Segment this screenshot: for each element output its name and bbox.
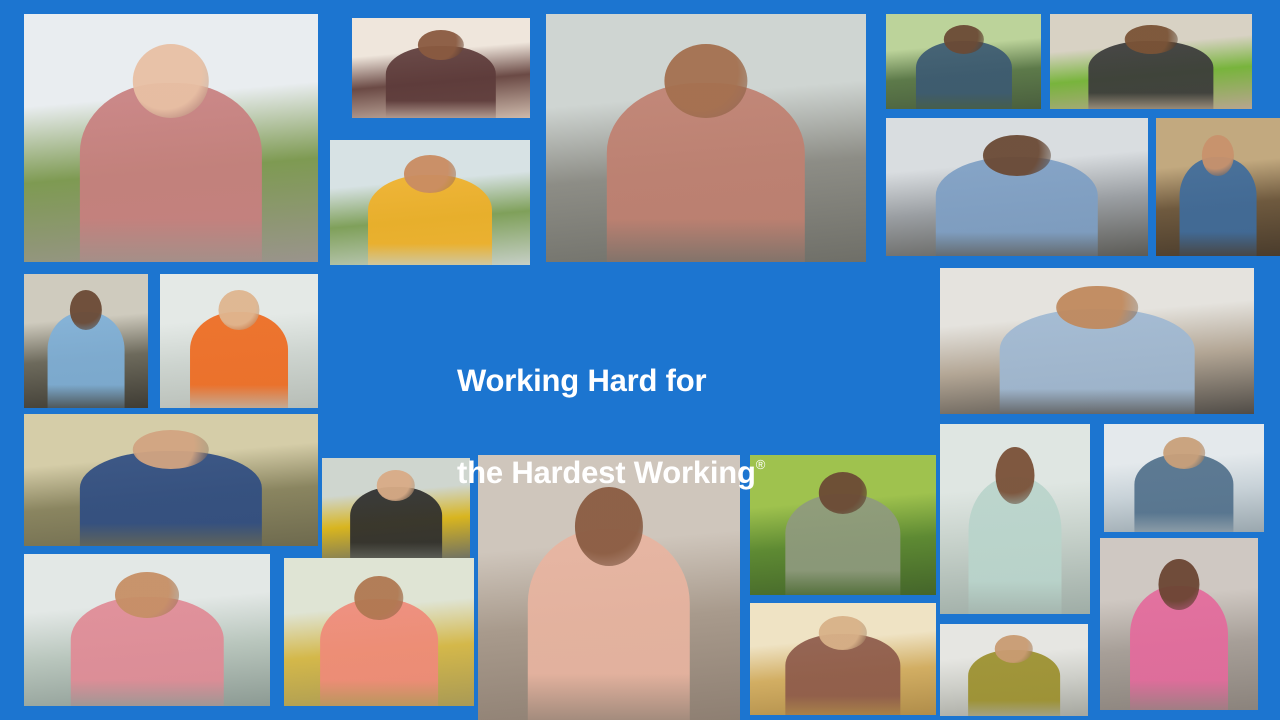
photo-woman-olive-top-indoors [940, 624, 1088, 716]
photo-barista-with-apron [546, 14, 866, 262]
photo-woman-office-desk [940, 268, 1254, 414]
photo-senior-couple-on-sofa [160, 274, 318, 408]
photo-subject-face [133, 430, 209, 470]
tagline: Working Hard for the Hardest Working® [457, 318, 765, 536]
photo-subject-face [819, 616, 867, 650]
photo-subject-face [995, 635, 1033, 663]
photo-soldier-in-camouflage [750, 455, 936, 595]
photo-family-of-five-outdoors [24, 14, 318, 262]
photo-subject-face [1125, 25, 1178, 54]
photo-couple-embracing [940, 424, 1090, 614]
collage-banner: Working Hard for the Hardest Working® [0, 0, 1280, 720]
photo-three-generations-field [750, 603, 936, 715]
photo-two-workers-hard-hats [24, 414, 318, 546]
photo-nurse-with-child [1104, 424, 1264, 532]
photo-subject-face [664, 44, 747, 118]
tagline-line-2-wrapper: the Hardest Working® [457, 444, 765, 494]
registered-trademark-icon: ® [756, 457, 766, 472]
photo-woman-celebrating-arms-raised [1100, 538, 1258, 710]
photo-military-family-hug [886, 14, 1041, 109]
photo-subject-face [943, 25, 983, 54]
photo-mother-daughter-yellow-orange [330, 140, 530, 265]
photo-subject-face [1056, 286, 1138, 330]
photo-subject-face [404, 155, 456, 193]
photo-parents-with-toddlers [284, 558, 474, 706]
photo-subject-face [377, 470, 415, 501]
photo-subject-face [218, 290, 259, 330]
photo-auto-mechanic-by-car [886, 118, 1148, 256]
photo-subject-face [996, 447, 1035, 504]
tagline-line-1: Working Hard for [457, 360, 765, 402]
photo-woman-apron-warehouse [322, 458, 470, 560]
photo-woman-in-overalls-shop [1156, 118, 1280, 256]
photo-subject-face [1158, 559, 1199, 611]
photo-classroom-tutoring [1050, 14, 1252, 109]
photo-family-of-four-indoors [24, 554, 270, 706]
photo-subject-face [1163, 437, 1205, 469]
photo-subject-face [819, 472, 867, 514]
photo-man-blue-polo-warehouse [24, 274, 148, 408]
photo-subject-face [115, 572, 179, 618]
photo-subject-face [418, 30, 464, 60]
photo-family-reading-tablet [352, 18, 530, 118]
tagline-line-2: the Hardest Working [457, 455, 756, 490]
